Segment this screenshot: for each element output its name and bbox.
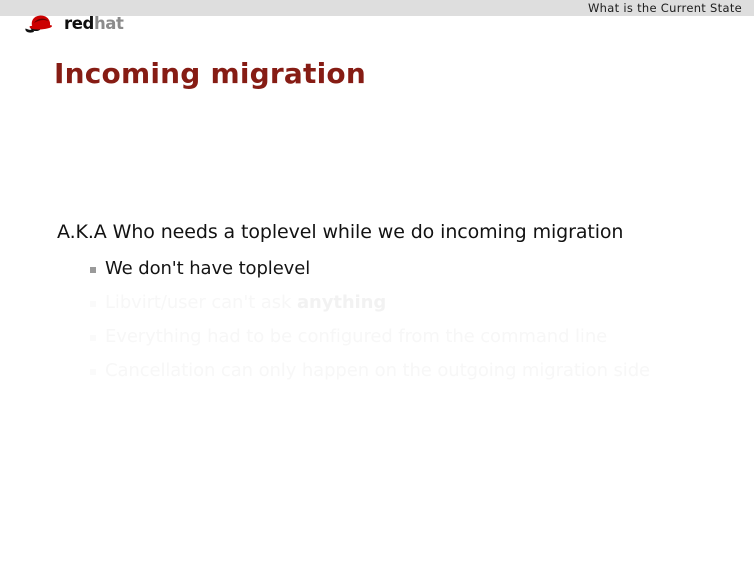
- bullet-emphasis: anything: [297, 292, 386, 313]
- bullet-item: Everything had to be configured from the…: [57, 320, 737, 354]
- slide-section-title: What is the Current State: [588, 0, 742, 16]
- logo-word-hat: hat: [94, 14, 124, 33]
- bullet-text: Libvirt/user can't ask: [105, 292, 297, 313]
- square-bullet-icon: [90, 301, 96, 307]
- bullet-item: Cancellation can only happen on the outg…: [57, 354, 737, 388]
- logo-word-red: red: [64, 14, 94, 33]
- slide-title: Incoming migration: [54, 57, 366, 90]
- slide-lead-line: A.K.A Who needs a toplevel while we do i…: [57, 218, 737, 246]
- presentation-slide: What is the Current State redhat Incomin…: [0, 0, 754, 566]
- redhat-wordmark: redhat: [64, 12, 124, 36]
- bullet-item: Libvirt/user can't ask anything: [57, 286, 737, 320]
- square-bullet-icon: [90, 369, 96, 375]
- redhat-logo: redhat: [22, 12, 124, 36]
- square-bullet-icon: [90, 335, 96, 341]
- redhat-shadowman-icon: [22, 12, 62, 36]
- bullet-list: We don't have toplevel Libvirt/user can'…: [57, 252, 737, 388]
- square-bullet-icon: [90, 267, 96, 273]
- bullet-text: Cancellation can only happen on the outg…: [105, 360, 650, 381]
- bullet-text: We don't have toplevel: [105, 258, 310, 279]
- bullet-text: Everything had to be configured from the…: [105, 326, 607, 347]
- slide-body: A.K.A Who needs a toplevel while we do i…: [57, 218, 737, 388]
- bullet-item: We don't have toplevel: [57, 252, 737, 286]
